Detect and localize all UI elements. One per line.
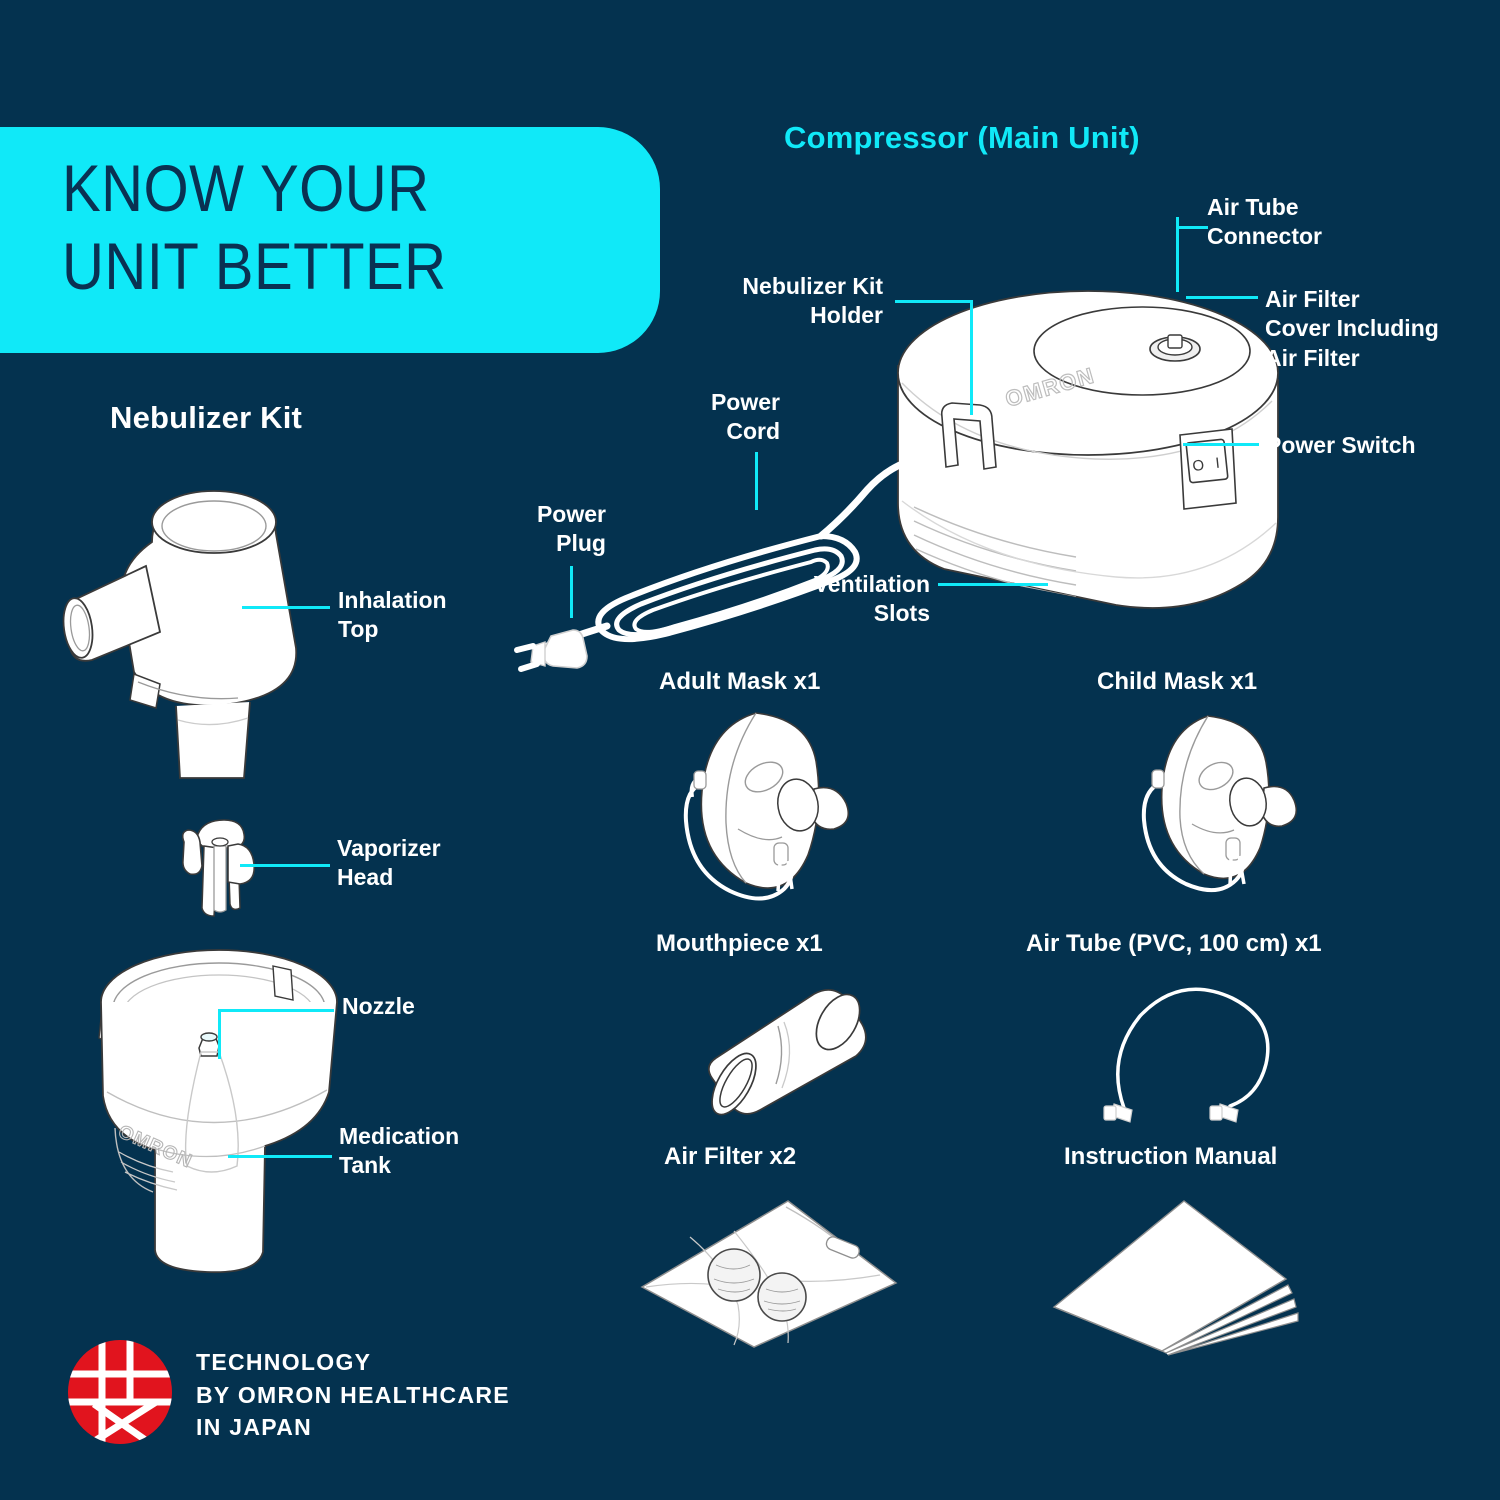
callout-nebulizer-kit-holder-leader-v xyxy=(970,300,973,415)
callout-vaporizer-head-leader xyxy=(240,864,330,867)
callout-inhalation-top-label: Inhalation Top xyxy=(338,586,447,645)
air-filter-illustration xyxy=(630,1195,910,1355)
callout-nebulizer-kit-holder-label: Nebulizer Kit Holder xyxy=(655,272,883,331)
callout-power-cord-label: Power Cord xyxy=(640,388,780,447)
caption-air-filter: Air Filter x2 xyxy=(664,1143,796,1171)
caption-child-mask: Child Mask x1 xyxy=(1097,668,1257,696)
callout-vaporizer-head-label: Vaporizer Head xyxy=(337,834,441,893)
callout-air-filter-cover-label: Air Filter Cover Including Air Filter xyxy=(1265,285,1439,373)
callout-air-tube-connector-label: Air Tube Connector xyxy=(1207,193,1322,252)
instruction-manual-illustration xyxy=(1050,1195,1310,1355)
caption-air-tube: Air Tube (PVC, 100 cm) x1 xyxy=(1026,930,1322,958)
caption-mouthpiece: Mouthpiece x1 xyxy=(656,930,823,958)
infographic-canvas: KNOW YOUR UNIT BETTER Compressor (Main U… xyxy=(0,0,1500,1500)
caption-instruction-manual: Instruction Manual xyxy=(1064,1143,1277,1171)
callout-air-tube-connector-leader-h xyxy=(1176,226,1208,229)
air-tube-illustration xyxy=(1080,980,1320,1130)
callout-nozzle-label: Nozzle xyxy=(342,992,415,1021)
callout-power-switch-leader xyxy=(1183,443,1259,446)
callout-ventilation-slots-leader xyxy=(938,583,1048,586)
omron-japan-badge-icon xyxy=(68,1340,172,1444)
mouthpiece-illustration xyxy=(686,980,906,1120)
power-switch-off-mark: O xyxy=(1192,457,1205,475)
callout-medication-tank-leader xyxy=(228,1155,332,1158)
nebulizer-kit-section-heading: Nebulizer Kit xyxy=(110,400,302,436)
badge-text: TECHNOLOGY BY OMRON HEALTHCARE IN JAPAN xyxy=(196,1346,510,1444)
callout-medication-tank-label: Medication Tank xyxy=(339,1122,459,1181)
vaporizer-head-illustration xyxy=(170,812,290,927)
callout-power-plug-label: Power Plug xyxy=(466,500,606,559)
callout-power-switch-label: Power Switch xyxy=(1266,431,1416,460)
adult-mask-illustration xyxy=(660,705,890,905)
child-mask-illustration xyxy=(1120,710,1330,900)
callout-air-filter-cover-leader xyxy=(1186,296,1258,299)
callout-nozzle-leader-v xyxy=(218,1009,221,1059)
inhalation-top-illustration xyxy=(60,470,340,790)
callout-power-plug-leader xyxy=(570,566,573,618)
callout-nozzle-leader-h xyxy=(218,1009,334,1012)
caption-adult-mask: Adult Mask x1 xyxy=(659,668,820,696)
page-title: KNOW YOUR UNIT BETTER xyxy=(62,150,555,306)
compressor-section-heading: Compressor (Main Unit) xyxy=(784,120,1140,156)
callout-nebulizer-kit-holder-leader-h xyxy=(895,300,973,303)
callout-power-cord-leader xyxy=(755,452,758,510)
callout-inhalation-top-leader xyxy=(242,606,330,609)
